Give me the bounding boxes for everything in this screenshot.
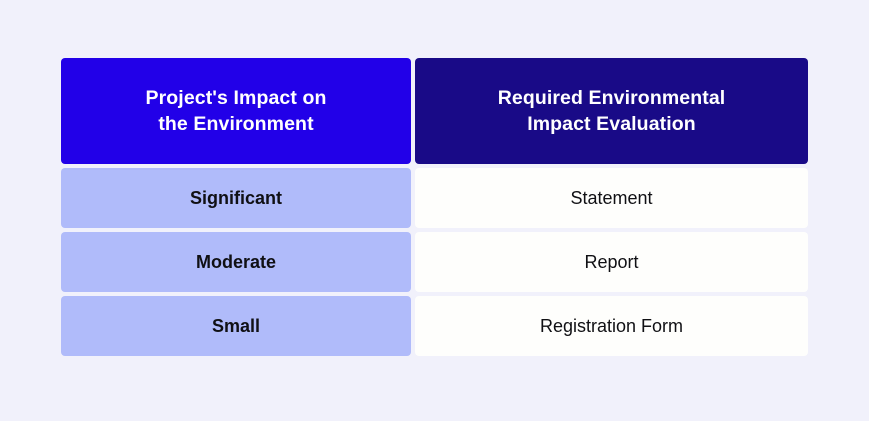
table-header-row: Project's Impact on the Environment Requ… — [61, 58, 808, 164]
table-cell-evaluation: Statement — [415, 168, 808, 228]
table-cell-impact: Small — [61, 296, 411, 356]
table-header-impact: Project's Impact on the Environment — [61, 58, 411, 164]
table-cell-evaluation: Registration Form — [415, 296, 808, 356]
table-header-evaluation-line2: Impact Evaluation — [498, 111, 726, 137]
table-row: Small Registration Form — [61, 296, 808, 356]
comparison-table-container: Project's Impact on the Environment Requ… — [61, 58, 808, 356]
table-row: Moderate Report — [61, 232, 808, 292]
impact-evaluation-table: Project's Impact on the Environment Requ… — [61, 58, 808, 356]
table-cell-impact: Significant — [61, 168, 411, 228]
table-cell-evaluation: Report — [415, 232, 808, 292]
table-header-impact-line2: the Environment — [146, 111, 327, 137]
table-header-evaluation: Required Environmental Impact Evaluation — [415, 58, 808, 164]
table-header-evaluation-line1: Required Environmental — [498, 85, 726, 111]
table-cell-impact: Moderate — [61, 232, 411, 292]
table-header-impact-line1: Project's Impact on — [146, 85, 327, 111]
table-row: Significant Statement — [61, 168, 808, 228]
